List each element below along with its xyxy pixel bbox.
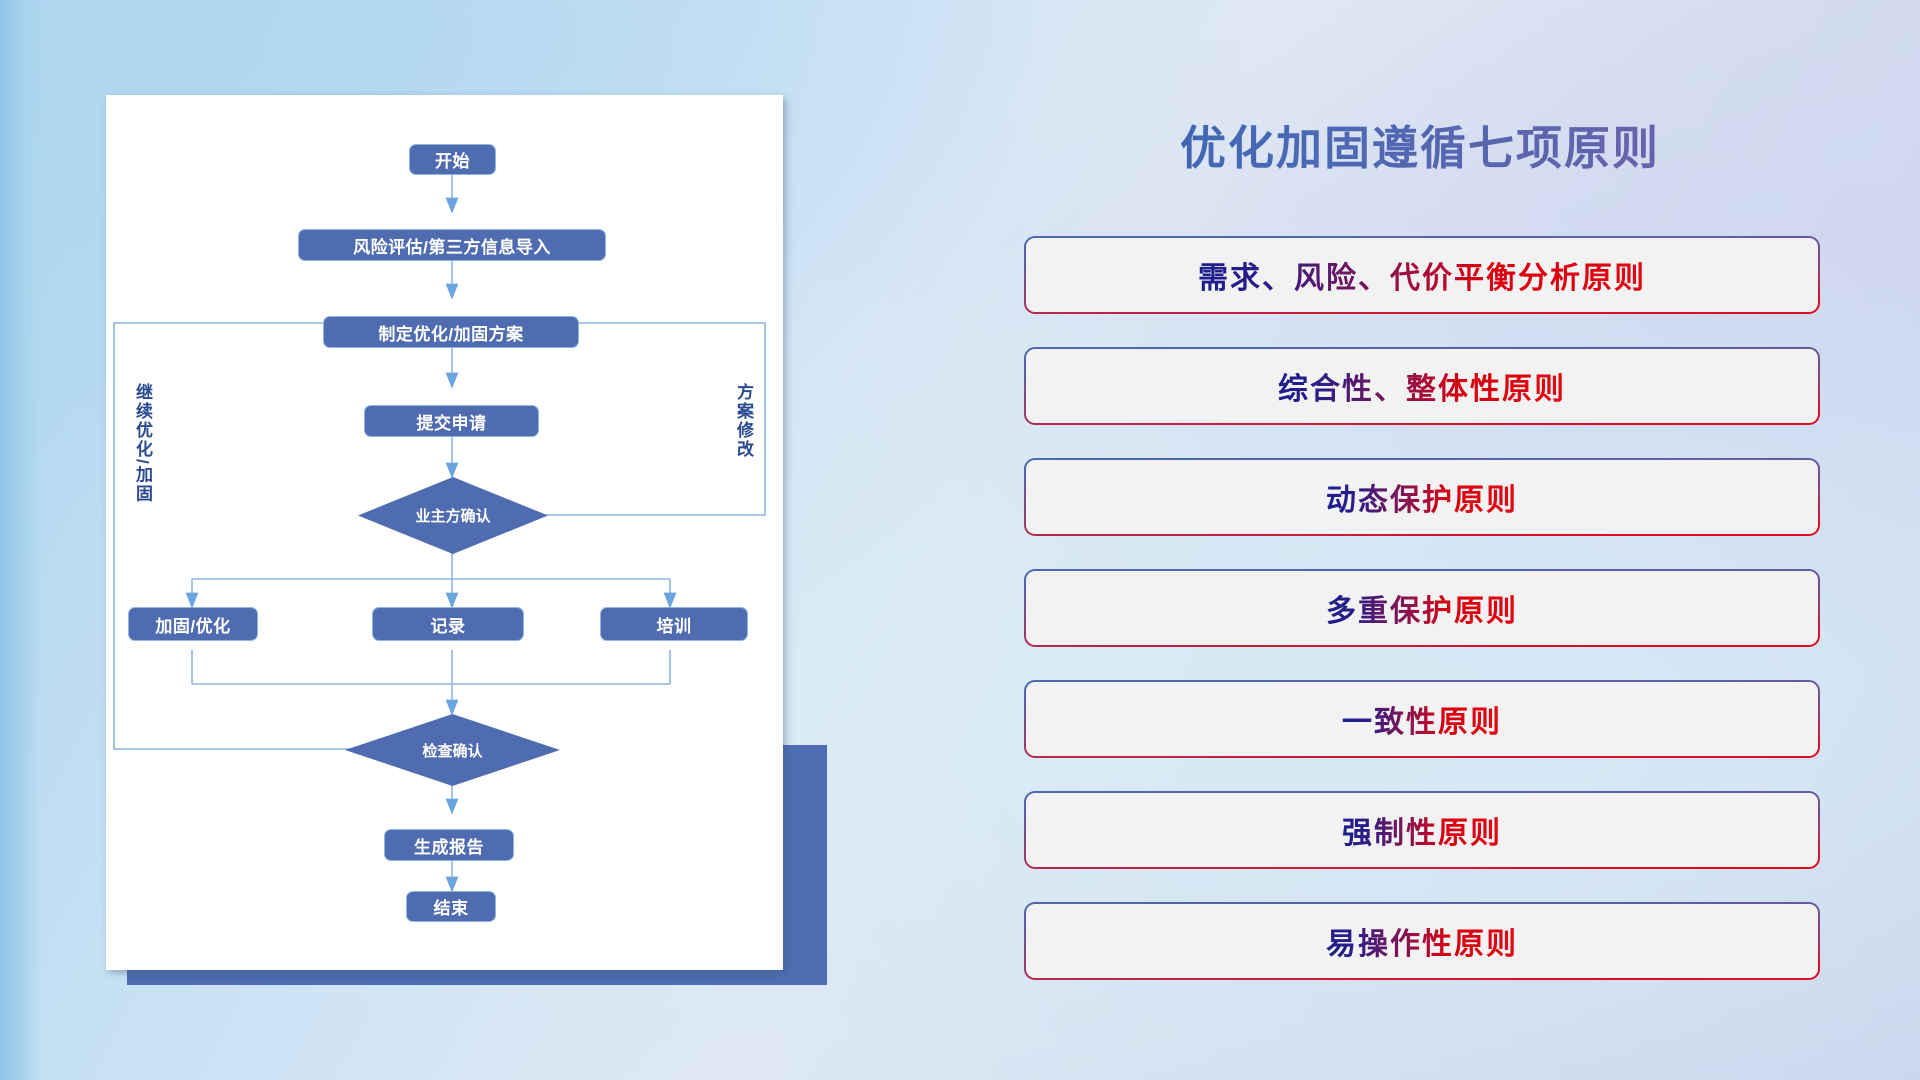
principle-label: 多重保护原则 [1326,586,1518,630]
flow-node-label: 记录 [431,612,466,637]
principle-item[interactable]: 易操作性原则 [1024,902,1820,980]
principle-inner: 综合性、整体性原则 [1026,349,1818,423]
principle-inner: 一致性原则 [1026,682,1818,756]
principle-label: 需求、风险、代价平衡分析原则 [1198,253,1646,297]
principle-item[interactable]: 综合性、整体性原则 [1024,347,1820,425]
flow-node-record[interactable]: 记录 [372,607,524,641]
flow-node-label: 业主方确认 [415,505,490,526]
principle-inner: 强制性原则 [1026,793,1818,867]
flow-node-label: 培训 [657,612,692,637]
flow-node-plan[interactable]: 制定优化/加固方案 [323,316,579,348]
principle-label: 综合性、整体性原则 [1278,364,1566,408]
flow-node-label: 加固/优化 [155,612,230,637]
principle-item[interactable]: 需求、风险、代价平衡分析原则 [1024,236,1820,314]
flow-node-submit[interactable]: 提交申请 [364,405,539,437]
principle-inner: 易操作性原则 [1026,904,1818,978]
flow-node-report[interactable]: 生成报告 [384,829,514,861]
flow-node-label: 检查确认 [422,740,482,761]
flow-node-label: 开始 [435,147,470,172]
principle-inner: 多重保护原则 [1026,571,1818,645]
flow-node-label: 制定优化/加固方案 [378,320,523,345]
flowchart-card: 开始 风险评估/第三方信息导入 制定优化/加固方案 提交申请 业主方确认 加固/… [106,95,783,970]
principle-label: 易操作性原则 [1326,919,1518,963]
flow-node-train[interactable]: 培训 [600,607,748,641]
flow-node-label: 生成报告 [414,833,484,858]
flow-node-label: 提交申请 [417,409,487,434]
panel-title: 优化加固遵循七项原则 [1020,112,1820,178]
flow-edge-label-right: 方案修改 [731,383,756,459]
principle-label: 动态保护原则 [1326,475,1518,519]
principle-item[interactable]: 动态保护原则 [1024,458,1820,536]
flow-node-reinforce[interactable]: 加固/优化 [128,607,258,641]
flow-node-risk[interactable]: 风险评估/第三方信息导入 [298,229,606,261]
principle-item[interactable]: 一致性原则 [1024,680,1820,758]
slide-background: 开始 风险评估/第三方信息导入 制定优化/加固方案 提交申请 业主方确认 加固/… [0,0,1920,1080]
principle-item[interactable]: 多重保护原则 [1024,569,1820,647]
flow-node-end[interactable]: 结束 [406,891,496,922]
principle-label: 一致性原则 [1342,697,1502,741]
principle-inner: 需求、风险、代价平衡分析原则 [1026,238,1818,312]
flow-node-start[interactable]: 开始 [409,144,496,175]
flow-node-label: 结束 [434,894,469,919]
principle-label: 强制性原则 [1342,808,1502,852]
principles-list: 需求、风险、代价平衡分析原则 综合性、整体性原则 动态保护原则 多重保护原则 一… [1024,236,1820,1013]
principle-inner: 动态保护原则 [1026,460,1818,534]
flowchart: 开始 风险评估/第三方信息导入 制定优化/加固方案 提交申请 业主方确认 加固/… [106,95,783,970]
principle-item[interactable]: 强制性原则 [1024,791,1820,869]
flow-node-label: 风险评估/第三方信息导入 [353,233,551,258]
flow-edge-label-left: 继续优化/加固 [130,383,155,504]
